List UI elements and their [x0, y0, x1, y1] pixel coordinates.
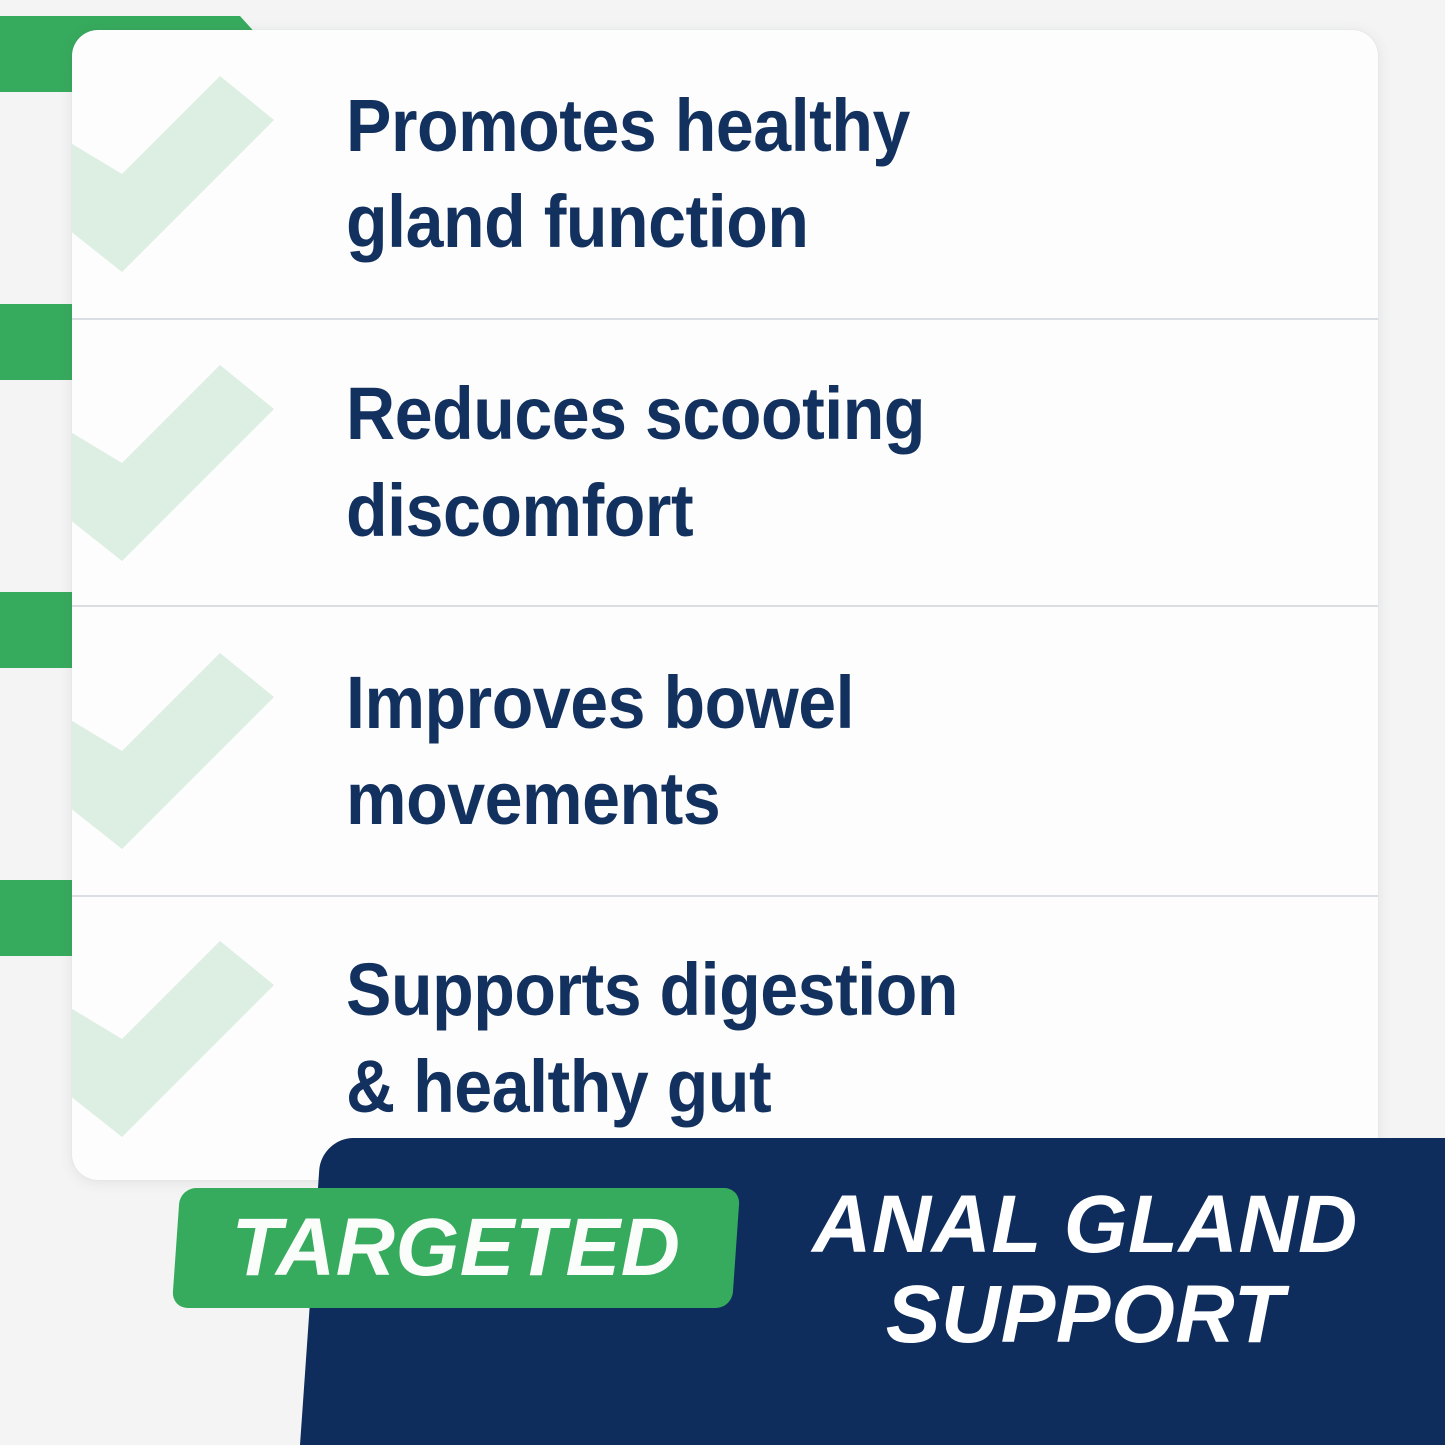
targeted-badge-label: TARGETED: [176, 1188, 736, 1308]
benefit-text: Improves bowel movements: [346, 655, 1295, 847]
product-benefits-graphic: Promotes healthy gland function Reduces …: [0, 0, 1445, 1445]
banner-headline: ANAL GLAND SUPPORT: [755, 1180, 1415, 1360]
benefit-text: Promotes healthy gland function: [346, 78, 1295, 270]
benefit-text: Supports digestion & healthy gut: [346, 942, 1295, 1134]
benefit-text: Reduces scooting discomfort: [346, 366, 1295, 558]
checkmark-icon: [72, 30, 346, 318]
benefits-card: Promotes healthy gland function Reduces …: [72, 30, 1378, 1180]
bottom-banner: ANAL GLAND SUPPORT TARGETED: [0, 1130, 1445, 1445]
benefits-list: Promotes healthy gland function Reduces …: [72, 30, 1378, 1180]
checkmark-icon: [72, 320, 346, 605]
benefit-row: Promotes healthy gland function: [72, 30, 1378, 318]
checkmark-icon: [72, 607, 346, 895]
benefit-row: Improves bowel movements: [72, 605, 1378, 895]
benefit-row: Reduces scooting discomfort: [72, 318, 1378, 605]
